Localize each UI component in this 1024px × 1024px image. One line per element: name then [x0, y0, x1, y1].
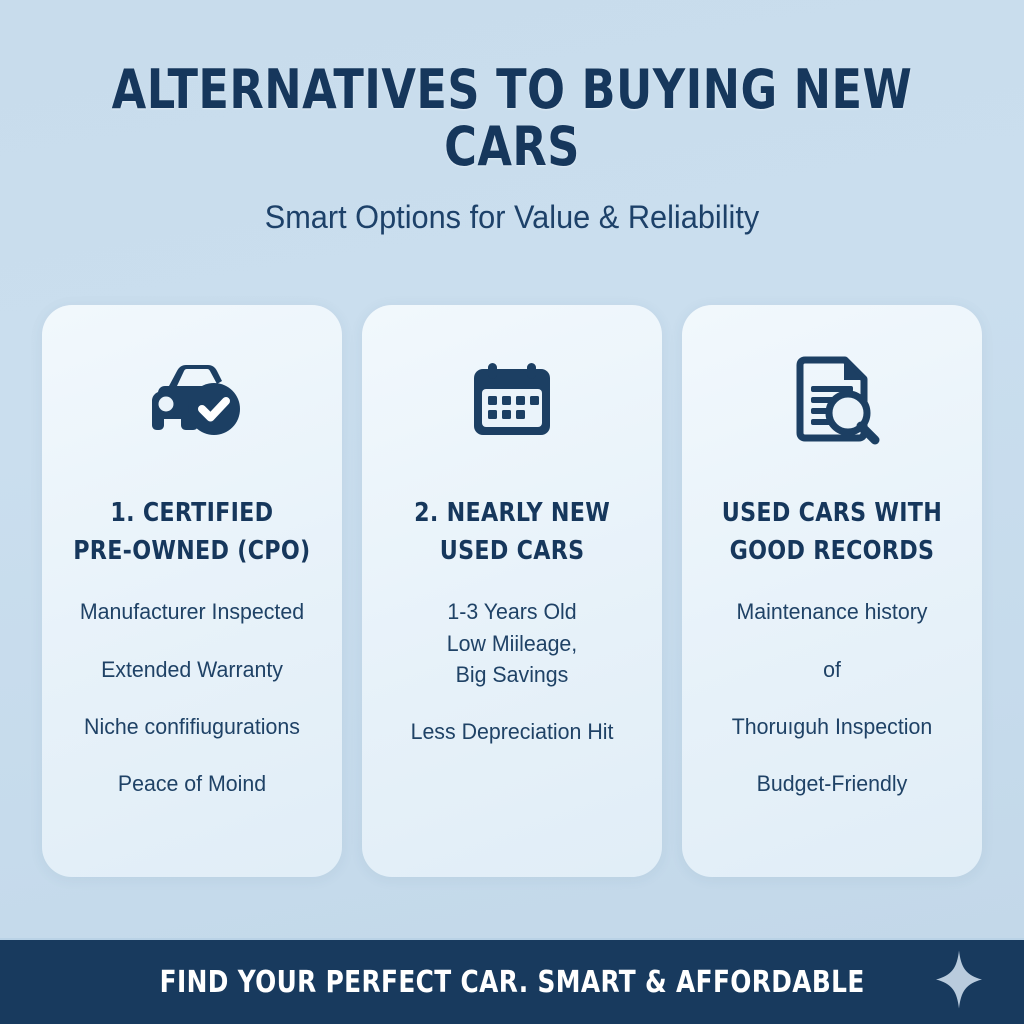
banner-tagline: FIND YOUR PERFECT CAR. SMART & AFFORDABL… [159, 965, 864, 1000]
card-feature-line: Big Savings [378, 659, 646, 690]
card-feature-line: Maintenance history [698, 596, 966, 627]
card-title: USED CARS WITH GOOD RECORDS [709, 495, 956, 570]
card-feature-line: Niche confifiugurations [58, 711, 326, 742]
bottom-banner: FIND YOUR PERFECT CAR. SMART & AFFORDABL… [0, 938, 1024, 1024]
header: ALTERNATIVES TO BUYING NEW CARS Smart Op… [0, 0, 1024, 236]
page-title: ALTERNATIVES TO BUYING NEW CARS [41, 62, 983, 175]
calendar-icon [466, 351, 558, 447]
card-body: Maintenance history of Thoruıguh Inspect… [682, 596, 982, 825]
option-card-certified-pre-owned[interactable]: 1. CERTIFIED PRE-OWNED (CPO) Manufacture… [42, 305, 342, 877]
sparkle-icon [936, 951, 982, 1014]
card-title: 2. NEARLY NEW USED CARS [401, 495, 623, 570]
document-search-icon [784, 351, 880, 447]
card-body: Manufacturer Inspected Extended Warranty… [42, 596, 342, 825]
option-card-nearly-new-used-cars[interactable]: 2. NEARLY NEW USED CARS 1-3 Years Old Lo… [362, 305, 662, 877]
card-title-line: USED CARS WITH [722, 498, 942, 528]
card-row: 1. CERTIFIED PRE-OWNED (CPO) Manufacture… [42, 305, 982, 880]
card-title-line: 1. CERTIFIED [110, 498, 273, 528]
option-card-used-cars-good-records[interactable]: USED CARS WITH GOOD RECORDS Maintenance … [682, 305, 982, 877]
car-check-icon [138, 351, 246, 447]
card-title-line: PRE-OWNED (CPO) [73, 536, 310, 566]
card-feature-line: Budget-Friendly [698, 768, 966, 799]
card-title-line: GOOD RECORDS [730, 536, 935, 566]
card-feature-line: Low Miileage, [378, 628, 646, 659]
card-feature-line: Extended Warranty [58, 654, 326, 685]
card-feature-line: 1-3 Years Old [378, 596, 646, 627]
page-subtitle: Smart Options for Value & Reliability [20, 199, 1003, 236]
card-feature-line: Manufacturer Inspected [58, 596, 326, 627]
card-feature-line: Peace of Moind [58, 768, 326, 799]
card-feature-line: Thoruıguh Inspection [698, 711, 966, 742]
card-feature-line: of [698, 654, 966, 685]
card-body: 1-3 Years Old Low Miileage, Big Savings … [362, 596, 662, 773]
card-title: 1. CERTIFIED PRE-OWNED (CPO) [60, 495, 324, 570]
card-feature-line: Less Depreciation Hit [378, 716, 646, 747]
card-title-line: 2. NEARLY NEW [414, 498, 610, 528]
card-title-line: USED CARS [440, 536, 585, 566]
